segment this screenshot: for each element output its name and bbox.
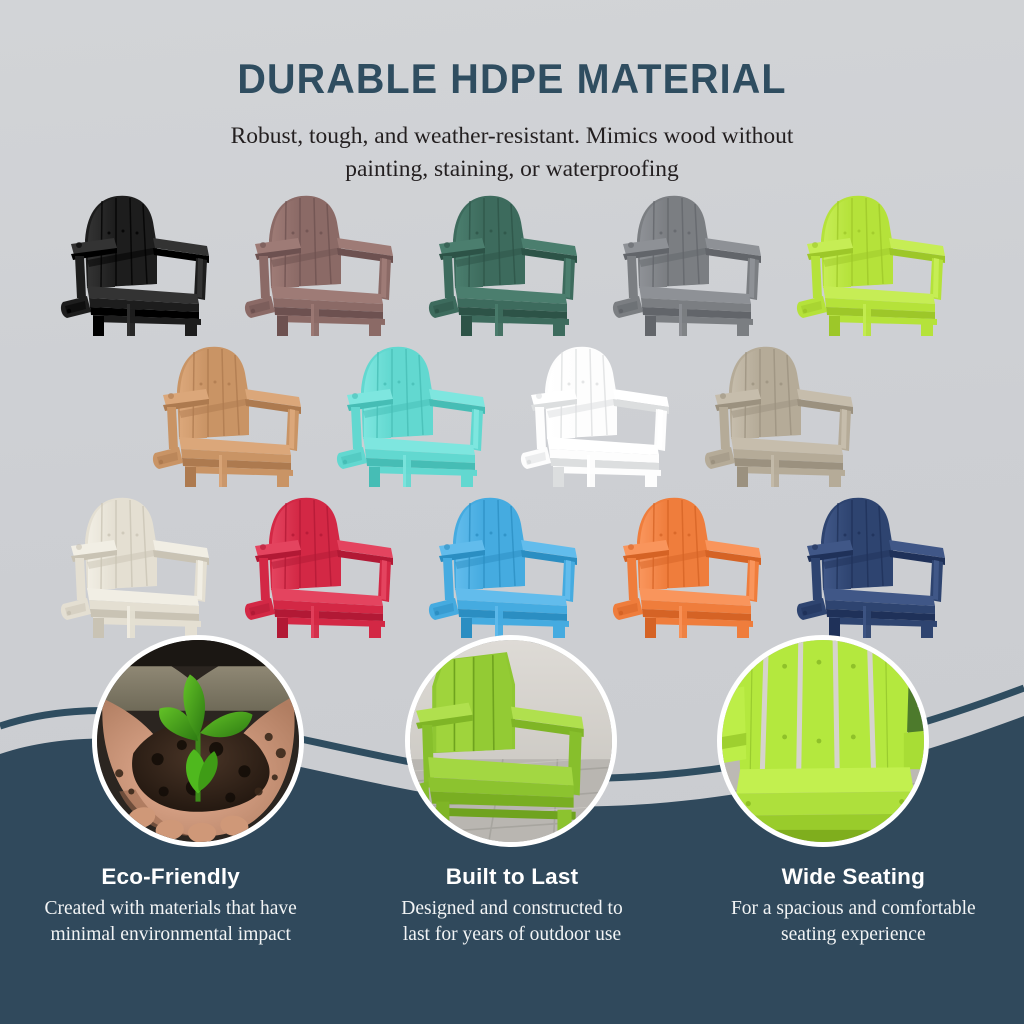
chair-swatch-gray[interactable]: [609, 188, 784, 336]
feature-built-to-last: Built to Last Designed and constructed t…: [341, 864, 682, 947]
chair-swatch-lime-green[interactable]: [793, 188, 968, 336]
photo-circle-built-to-last: [405, 635, 617, 847]
adirondack-chair-graphic: [149, 339, 324, 487]
adirondack-chair-graphic: [793, 490, 968, 638]
chair-swatch-orange[interactable]: [609, 490, 784, 638]
feature-eco-friendly: Eco-Friendly Created with materials that…: [0, 864, 341, 947]
feature-title: Wide Seating: [697, 864, 1010, 890]
feature-desc-line-1: Created with materials that have: [45, 898, 297, 919]
chair-swatch-weathered-wood[interactable]: [701, 339, 876, 487]
adirondack-chair-graphic: [57, 188, 232, 336]
chair-color-grid: [0, 188, 1024, 638]
chair-swatch-brown[interactable]: [241, 188, 416, 336]
adirondack-chair-graphic: [241, 188, 416, 336]
feature-description: Created with materials that have minimal…: [14, 896, 327, 947]
photo-circle-eco: [92, 635, 304, 847]
page-title: DURABLE HDPE MATERIAL: [31, 0, 994, 103]
chair-swatch-sky-blue[interactable]: [425, 490, 600, 638]
chair-row-1: [0, 188, 1024, 336]
page-subtitle: Robust, tough, and weather-resistant. Mi…: [0, 103, 1024, 187]
feature-wide-seating: Wide Seating For a spacious and comforta…: [683, 864, 1024, 947]
adirondack-chair-graphic: [425, 490, 600, 638]
chair-row-2: [0, 339, 1024, 487]
feature-description: Designed and constructed to last for yea…: [355, 896, 668, 947]
adirondack-chair-graphic: [701, 339, 876, 487]
feature-caption-row: Eco-Friendly Created with materials that…: [0, 864, 1024, 947]
adirondack-chair-graphic: [609, 188, 784, 336]
feature-description: For a spacious and comfortable seating e…: [697, 896, 1010, 947]
chair-swatch-teak[interactable]: [149, 339, 324, 487]
adirondack-chair-graphic: [241, 490, 416, 638]
adirondack-chair-graphic: [793, 188, 968, 336]
chair-row-3: [0, 490, 1024, 638]
feature-desc-line-2: minimal environmental impact: [50, 924, 290, 945]
header-block: DURABLE HDPE MATERIAL Robust, tough, and…: [0, 0, 1024, 187]
chair-swatch-navy-blue[interactable]: [793, 490, 968, 638]
chair-swatch-black[interactable]: [57, 188, 232, 336]
lime-chair-wide-seat-closeup-image: [722, 640, 924, 842]
hands-holding-soil-seedling-image: [97, 640, 299, 842]
adirondack-chair-graphic: [57, 490, 232, 638]
adirondack-chair-graphic: [609, 490, 784, 638]
adirondack-chair-graphic: [425, 188, 600, 336]
chair-swatch-red[interactable]: [241, 490, 416, 638]
chair-swatch-white[interactable]: [517, 339, 692, 487]
infographic-canvas: DURABLE HDPE MATERIAL Robust, tough, and…: [0, 0, 1024, 1024]
subtitle-line-2: painting, staining, or waterproofing: [345, 156, 679, 182]
lime-chair-on-patio-image: [410, 640, 612, 842]
feature-desc-line-1: Designed and constructed to: [401, 898, 622, 919]
feature-title: Eco-Friendly: [14, 864, 327, 890]
feature-title: Built to Last: [355, 864, 668, 890]
feature-desc-line-2: seating experience: [781, 924, 926, 945]
subtitle-line-1: Robust, tough, and weather-resistant. Mi…: [231, 123, 794, 149]
chair-swatch-turquoise[interactable]: [333, 339, 508, 487]
adirondack-chair-graphic: [517, 339, 692, 487]
photo-circle-wide-seating: [717, 635, 929, 847]
chair-swatch-dark-green[interactable]: [425, 188, 600, 336]
chair-swatch-ivory[interactable]: [57, 490, 232, 638]
feature-desc-line-1: For a spacious and comfortable: [731, 898, 976, 919]
adirondack-chair-graphic: [333, 339, 508, 487]
feature-desc-line-2: last for years of outdoor use: [403, 924, 621, 945]
feature-photo-row: [0, 633, 1024, 855]
